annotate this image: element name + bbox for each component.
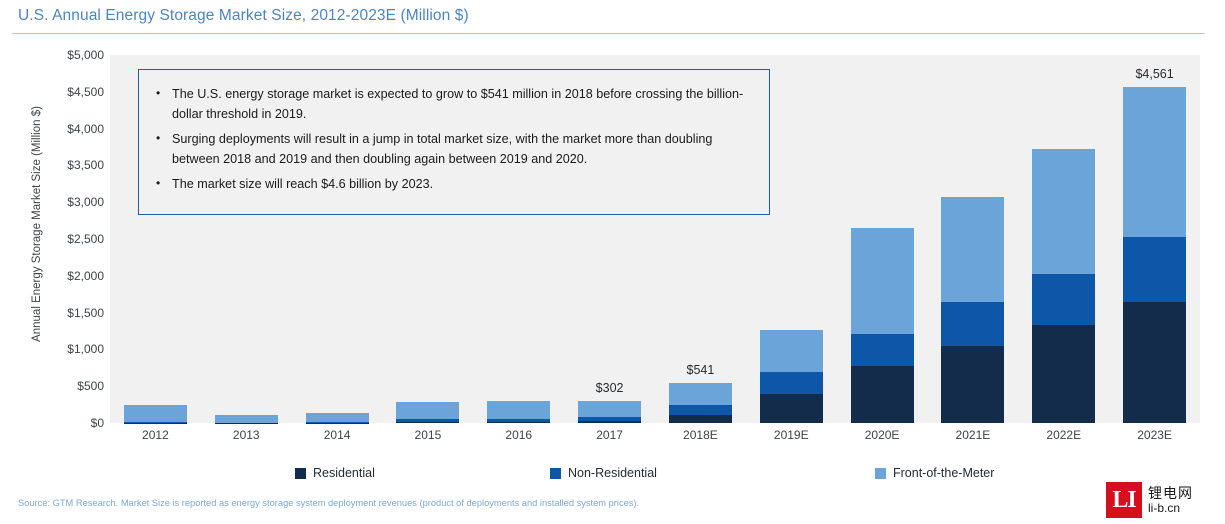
logo-mark-text: LI [1112, 488, 1135, 512]
bar-segment[interactable] [760, 330, 823, 372]
insight-bullet: Surging deployments will result in a jum… [153, 129, 753, 170]
x-axis-tick-label: 2023E [1115, 428, 1195, 442]
chart-page: U.S. Annual Energy Storage Market Size, … [0, 0, 1225, 524]
x-axis-tick-label: 2021E [933, 428, 1013, 442]
bar-segment[interactable] [396, 402, 459, 420]
bar-column[interactable]: $4,561 [1123, 87, 1186, 423]
y-axis-tick-label: $1,500 [67, 307, 104, 319]
legend-item[interactable]: Front-of-the-Meter [875, 466, 994, 480]
bar-segment[interactable] [124, 405, 187, 422]
logo-mark-icon: LI [1106, 482, 1142, 518]
bar-column[interactable] [124, 405, 187, 423]
bar-data-label: $541 [687, 363, 715, 377]
bar-segment[interactable] [1123, 237, 1186, 302]
y-axis-tick-label: $4,500 [67, 86, 104, 98]
bar-segment[interactable] [487, 401, 550, 419]
bar-column[interactable]: $541 [669, 383, 732, 423]
legend-swatch-icon [550, 468, 561, 479]
insights-callout-box: The U.S. energy storage market is expect… [138, 69, 770, 215]
x-axis-tick-label: 2019E [751, 428, 831, 442]
legend-swatch-icon [875, 468, 886, 479]
y-axis-tick-label: $0 [91, 417, 104, 429]
bar-column[interactable] [306, 413, 369, 423]
y-axis-tick-label: $3,000 [67, 196, 104, 208]
title-divider [12, 33, 1205, 34]
bar-segment[interactable] [1123, 87, 1186, 236]
bar-segment[interactable] [941, 346, 1004, 423]
legend-item[interactable]: Residential [295, 466, 375, 480]
y-axis-tick-label: $500 [77, 380, 104, 392]
bar-segment[interactable] [669, 415, 732, 423]
insights-bullet-list: The U.S. energy storage market is expect… [153, 84, 753, 194]
legend-item[interactable]: Non-Residential [550, 466, 657, 480]
y-axis-tick-labels: $0$500$1,000$1,500$2,000$2,500$3,000$3,5… [52, 45, 104, 435]
site-logo[interactable]: LI 锂电网 li-b.cn [1106, 482, 1193, 518]
y-axis-tick-label: $5,000 [67, 49, 104, 61]
y-axis-tick-label: $3,500 [67, 159, 104, 171]
bar-segment[interactable] [941, 302, 1004, 346]
x-axis-tick-label: 2022E [1024, 428, 1104, 442]
bar-column[interactable]: $302 [578, 401, 641, 423]
chart-legend: ResidentialNon-ResidentialFront-of-the-M… [110, 466, 1200, 486]
y-axis-tick-label: $2,500 [67, 233, 104, 245]
bar-segment[interactable] [306, 413, 369, 422]
bar-column[interactable] [396, 402, 459, 423]
bar-column[interactable] [1032, 149, 1095, 423]
legend-label: Non-Residential [568, 466, 657, 480]
legend-swatch-icon [295, 468, 306, 479]
bar-segment[interactable] [1032, 274, 1095, 326]
x-axis-tick-label: 2020E [842, 428, 922, 442]
x-axis-tick-label: 2016 [479, 428, 559, 442]
logo-url: li-b.cn [1148, 502, 1193, 515]
bar-segment[interactable] [851, 334, 914, 366]
x-axis-tick-label: 2017 [570, 428, 650, 442]
bar-column[interactable] [760, 330, 823, 423]
bar-segment[interactable] [578, 421, 641, 423]
insight-bullet: The U.S. energy storage market is expect… [153, 84, 753, 125]
y-axis-title: Annual Energy Storage Market Size (Milli… [31, 44, 43, 404]
x-axis-tick-labels: 2012201320142015201620172018E2019E2020E2… [110, 428, 1200, 448]
logo-text-block: 锂电网 li-b.cn [1148, 486, 1193, 514]
bar-segment[interactable] [487, 422, 550, 423]
legend-label: Front-of-the-Meter [893, 466, 994, 480]
y-axis-tick-label: $1,000 [67, 343, 104, 355]
bar-data-label: $302 [596, 381, 624, 395]
bar-segment[interactable] [1032, 149, 1095, 273]
bar-column[interactable] [941, 197, 1004, 423]
bar-segment[interactable] [669, 405, 732, 415]
x-axis-tick-label: 2013 [206, 428, 286, 442]
bar-segment[interactable] [578, 401, 641, 417]
bar-segment[interactable] [760, 372, 823, 393]
y-axis-tick-label: $2,000 [67, 270, 104, 282]
bar-column[interactable] [851, 228, 914, 423]
logo-chinese-name: 锂电网 [1148, 486, 1193, 501]
bar-segment[interactable] [760, 394, 823, 423]
bar-data-label: $4,561 [1135, 67, 1173, 81]
x-axis-tick-label: 2014 [297, 428, 377, 442]
bar-segment[interactable] [851, 366, 914, 423]
bar-segment[interactable] [1032, 325, 1095, 423]
bar-segment[interactable] [396, 422, 459, 423]
bar-segment[interactable] [851, 228, 914, 334]
bar-segment[interactable] [941, 197, 1004, 302]
x-axis-tick-label: 2012 [115, 428, 195, 442]
x-axis-tick-label: 2015 [388, 428, 468, 442]
x-axis-tick-label: 2018E [660, 428, 740, 442]
bar-segment[interactable] [215, 415, 278, 423]
page-title: U.S. Annual Energy Storage Market Size, … [18, 7, 469, 25]
insight-bullet: The market size will reach $4.6 billion … [153, 174, 753, 194]
bar-column[interactable] [215, 415, 278, 423]
bar-segment[interactable] [669, 383, 732, 405]
bar-column[interactable] [487, 401, 550, 423]
y-axis-tick-label: $4,000 [67, 123, 104, 135]
legend-label: Residential [313, 466, 375, 480]
source-note: Source: GTM Research. Market Size is rep… [18, 498, 639, 508]
bar-segment[interactable] [1123, 302, 1186, 423]
